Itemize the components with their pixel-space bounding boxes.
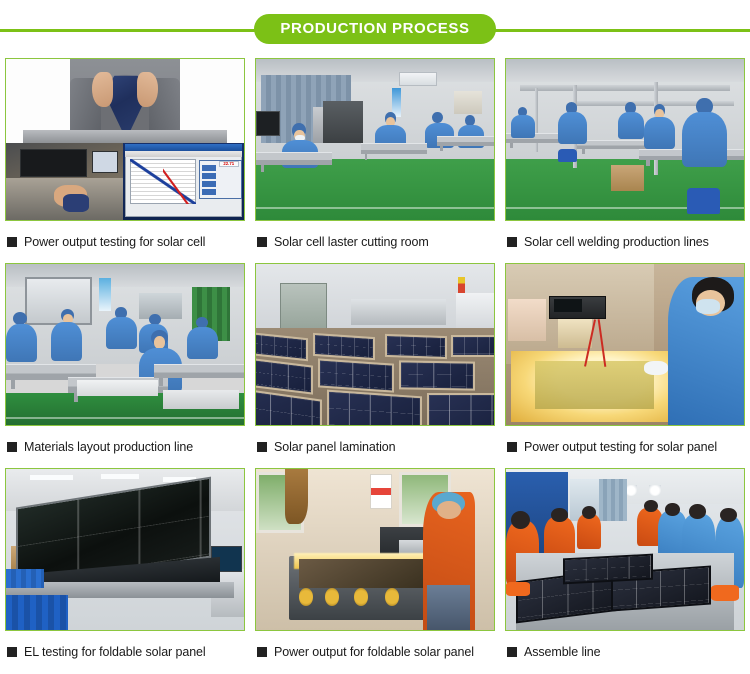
meter-stand (558, 319, 591, 348)
iv-curve-line-red (163, 159, 196, 204)
caption-label: Power output for foldable solar panel (274, 645, 474, 659)
caption-row: Assemble line (505, 631, 745, 673)
wafer-on-pad (63, 194, 89, 212)
laminated-panel (313, 333, 375, 360)
readout-label-bar (202, 173, 217, 179)
wall-window (25, 277, 92, 325)
panel-under-test (535, 361, 654, 409)
square-bullet-icon (7, 442, 17, 452)
caption-row: EL testing for foldable solar panel (5, 631, 245, 673)
worker-body (618, 112, 644, 139)
window-curtain (599, 479, 628, 521)
caption-label: Assemble line (524, 645, 601, 659)
laser-cutting-machine (323, 101, 363, 143)
worker-body (106, 317, 137, 349)
square-bullet-icon (507, 647, 517, 657)
bench-edge (23, 130, 228, 143)
worker-body (511, 115, 535, 138)
wall-poster (99, 278, 111, 310)
technician-mask (696, 299, 720, 313)
stacked-cartons (454, 91, 483, 114)
worker-body (644, 117, 675, 149)
work-bench (437, 136, 494, 146)
orange-panel-edge (506, 582, 530, 596)
caption-row: Power output for foldable solar panel (255, 631, 495, 673)
photo-solar-panel-lamination[interactable] (255, 263, 495, 426)
blue-stool (687, 188, 720, 214)
pendant-lamp (649, 485, 661, 496)
worker-body (51, 322, 82, 361)
worker-head (665, 503, 679, 516)
foldable-panel (563, 554, 653, 584)
software-toolbar (125, 151, 242, 157)
page-header: PRODUCTION PROCESS (0, 0, 750, 58)
work-bench (361, 143, 428, 154)
readout-label-bar (202, 165, 217, 171)
worker-head (511, 511, 530, 529)
work-bench (256, 152, 332, 165)
overhead-shelf (520, 85, 729, 91)
photo-assemble-line[interactable] (505, 468, 745, 631)
blue-crate-stack (6, 595, 68, 630)
worker-face (437, 501, 461, 519)
worker-body (6, 324, 37, 363)
caption-row: Solar cell laster cutting room (255, 221, 495, 263)
caption-label: Materials layout production line (24, 440, 193, 454)
square-bullet-icon (257, 237, 267, 247)
square-bullet-icon (257, 647, 267, 657)
technician-glove (644, 361, 668, 375)
caption-row: Power output testing for solar cell (5, 221, 245, 263)
readout-value: 22.71 (219, 161, 239, 167)
gallery-cell-power-output-foldable-solar-panel[interactable]: Power output for foldable solar panel (255, 468, 495, 673)
gallery-cell-materials-layout-production-line[interactable]: Materials layout production line (5, 263, 245, 468)
blue-stool (558, 149, 577, 162)
caption-label: Solar cell welding production lines (524, 235, 709, 249)
gallery-cell-assemble-line[interactable]: Assemble line (505, 468, 745, 673)
ceiling-light (101, 474, 139, 479)
blue-crate (6, 569, 44, 588)
operator-left-hand (92, 72, 113, 107)
room-ceiling (506, 59, 744, 82)
bench-port (354, 588, 368, 606)
square-bullet-icon (7, 647, 17, 657)
worker-trousers (427, 585, 470, 630)
wall-safety-sign (370, 474, 391, 509)
photo-el-testing-foldable-solar-panel[interactable] (5, 468, 245, 631)
page-title-badge: PRODUCTION PROCESS (254, 14, 495, 44)
photo-power-output-foldable-solar-panel[interactable] (255, 468, 495, 631)
laminated-panel (327, 389, 422, 426)
window-curtain (285, 469, 309, 524)
laminated-panel (318, 358, 394, 392)
laminator-machine (351, 299, 446, 325)
photo-solar-cell-welding-production-lines[interactable] (505, 58, 745, 221)
andon-signal-lamp (458, 277, 465, 293)
sheet-material (163, 390, 239, 409)
layout-table (154, 364, 244, 378)
readout-label-bar (202, 189, 217, 195)
gallery-cell-solar-panel-lamination[interactable]: Solar panel lamination (255, 263, 495, 468)
photo-solar-cell-laster-cutting-room[interactable] (255, 58, 495, 221)
worker-body (558, 112, 587, 144)
measurement-readout-panel: 3.477 0.669 5.730 22.71 (199, 160, 242, 199)
square-bullet-icon (507, 442, 517, 452)
square-bullet-icon (257, 442, 267, 452)
workstation-secondary-monitor (92, 151, 118, 174)
meter-display (554, 299, 583, 312)
production-process-gallery: 3.477 0.669 5.730 22.71 Power output tes… (0, 58, 750, 673)
caption-row: Solar panel lamination (255, 426, 495, 468)
caption-row: Materials layout production line (5, 426, 245, 468)
bench-port (299, 588, 313, 606)
caption-label: Solar cell laster cutting room (274, 235, 429, 249)
orange-panel-edge (711, 585, 740, 601)
worker-body-orange (577, 514, 601, 549)
worker-head (720, 508, 737, 522)
square-bullet-icon (7, 237, 17, 247)
bench-port (385, 588, 399, 606)
laminated-panel (399, 360, 475, 390)
caption-row: Power output testing for solar panel (505, 426, 745, 468)
gallery-cell-solar-cell-welding-production-lines[interactable]: Solar cell welding production lines (505, 58, 745, 263)
laminated-panel (427, 393, 495, 426)
sheet-material (77, 380, 158, 396)
worker-head (689, 504, 706, 518)
room-doorway (280, 283, 328, 335)
wall-shelf (508, 299, 546, 341)
cardboard-box (611, 165, 644, 191)
worker-body (682, 112, 727, 167)
laminated-panel (451, 335, 495, 358)
caption-label: Power output testing for solar cell (24, 235, 205, 249)
bench-port (325, 588, 339, 606)
caption-label: Solar panel lamination (274, 440, 396, 454)
ceiling-light (30, 475, 73, 480)
gallery-cell-power-output-testing-solar-cell[interactable]: 3.477 0.669 5.730 22.71 Power output tes… (5, 58, 245, 263)
gallery-cell-solar-cell-laster-cutting-room[interactable]: Solar cell laster cutting room (255, 58, 495, 263)
gallery-cell-power-output-testing-solar-panel[interactable]: Power output testing for solar panel (505, 263, 745, 468)
caption-label: EL testing for foldable solar panel (24, 645, 206, 659)
worker-head (551, 508, 568, 522)
worker-body (187, 327, 218, 359)
control-monitor (256, 111, 280, 137)
back-cabinet (139, 293, 182, 319)
laminated-panel (385, 334, 447, 359)
workstation-monitor (20, 149, 87, 176)
square-bullet-icon (507, 237, 517, 247)
gallery-cell-el-testing-foldable-solar-panel[interactable]: EL testing for foldable solar panel (5, 468, 245, 673)
photo-power-output-testing-solar-cell[interactable]: 3.477 0.669 5.730 22.71 (5, 58, 245, 221)
caption-row: Solar cell welding production lines (505, 221, 745, 263)
readout-label-bar (202, 181, 217, 187)
photo-materials-layout-production-line[interactable] (5, 263, 245, 426)
panel-on-bench (299, 559, 428, 588)
air-conditioner (399, 72, 437, 86)
photo-power-output-testing-solar-panel[interactable] (505, 263, 745, 426)
caption-label: Power output testing for solar panel (524, 440, 717, 454)
